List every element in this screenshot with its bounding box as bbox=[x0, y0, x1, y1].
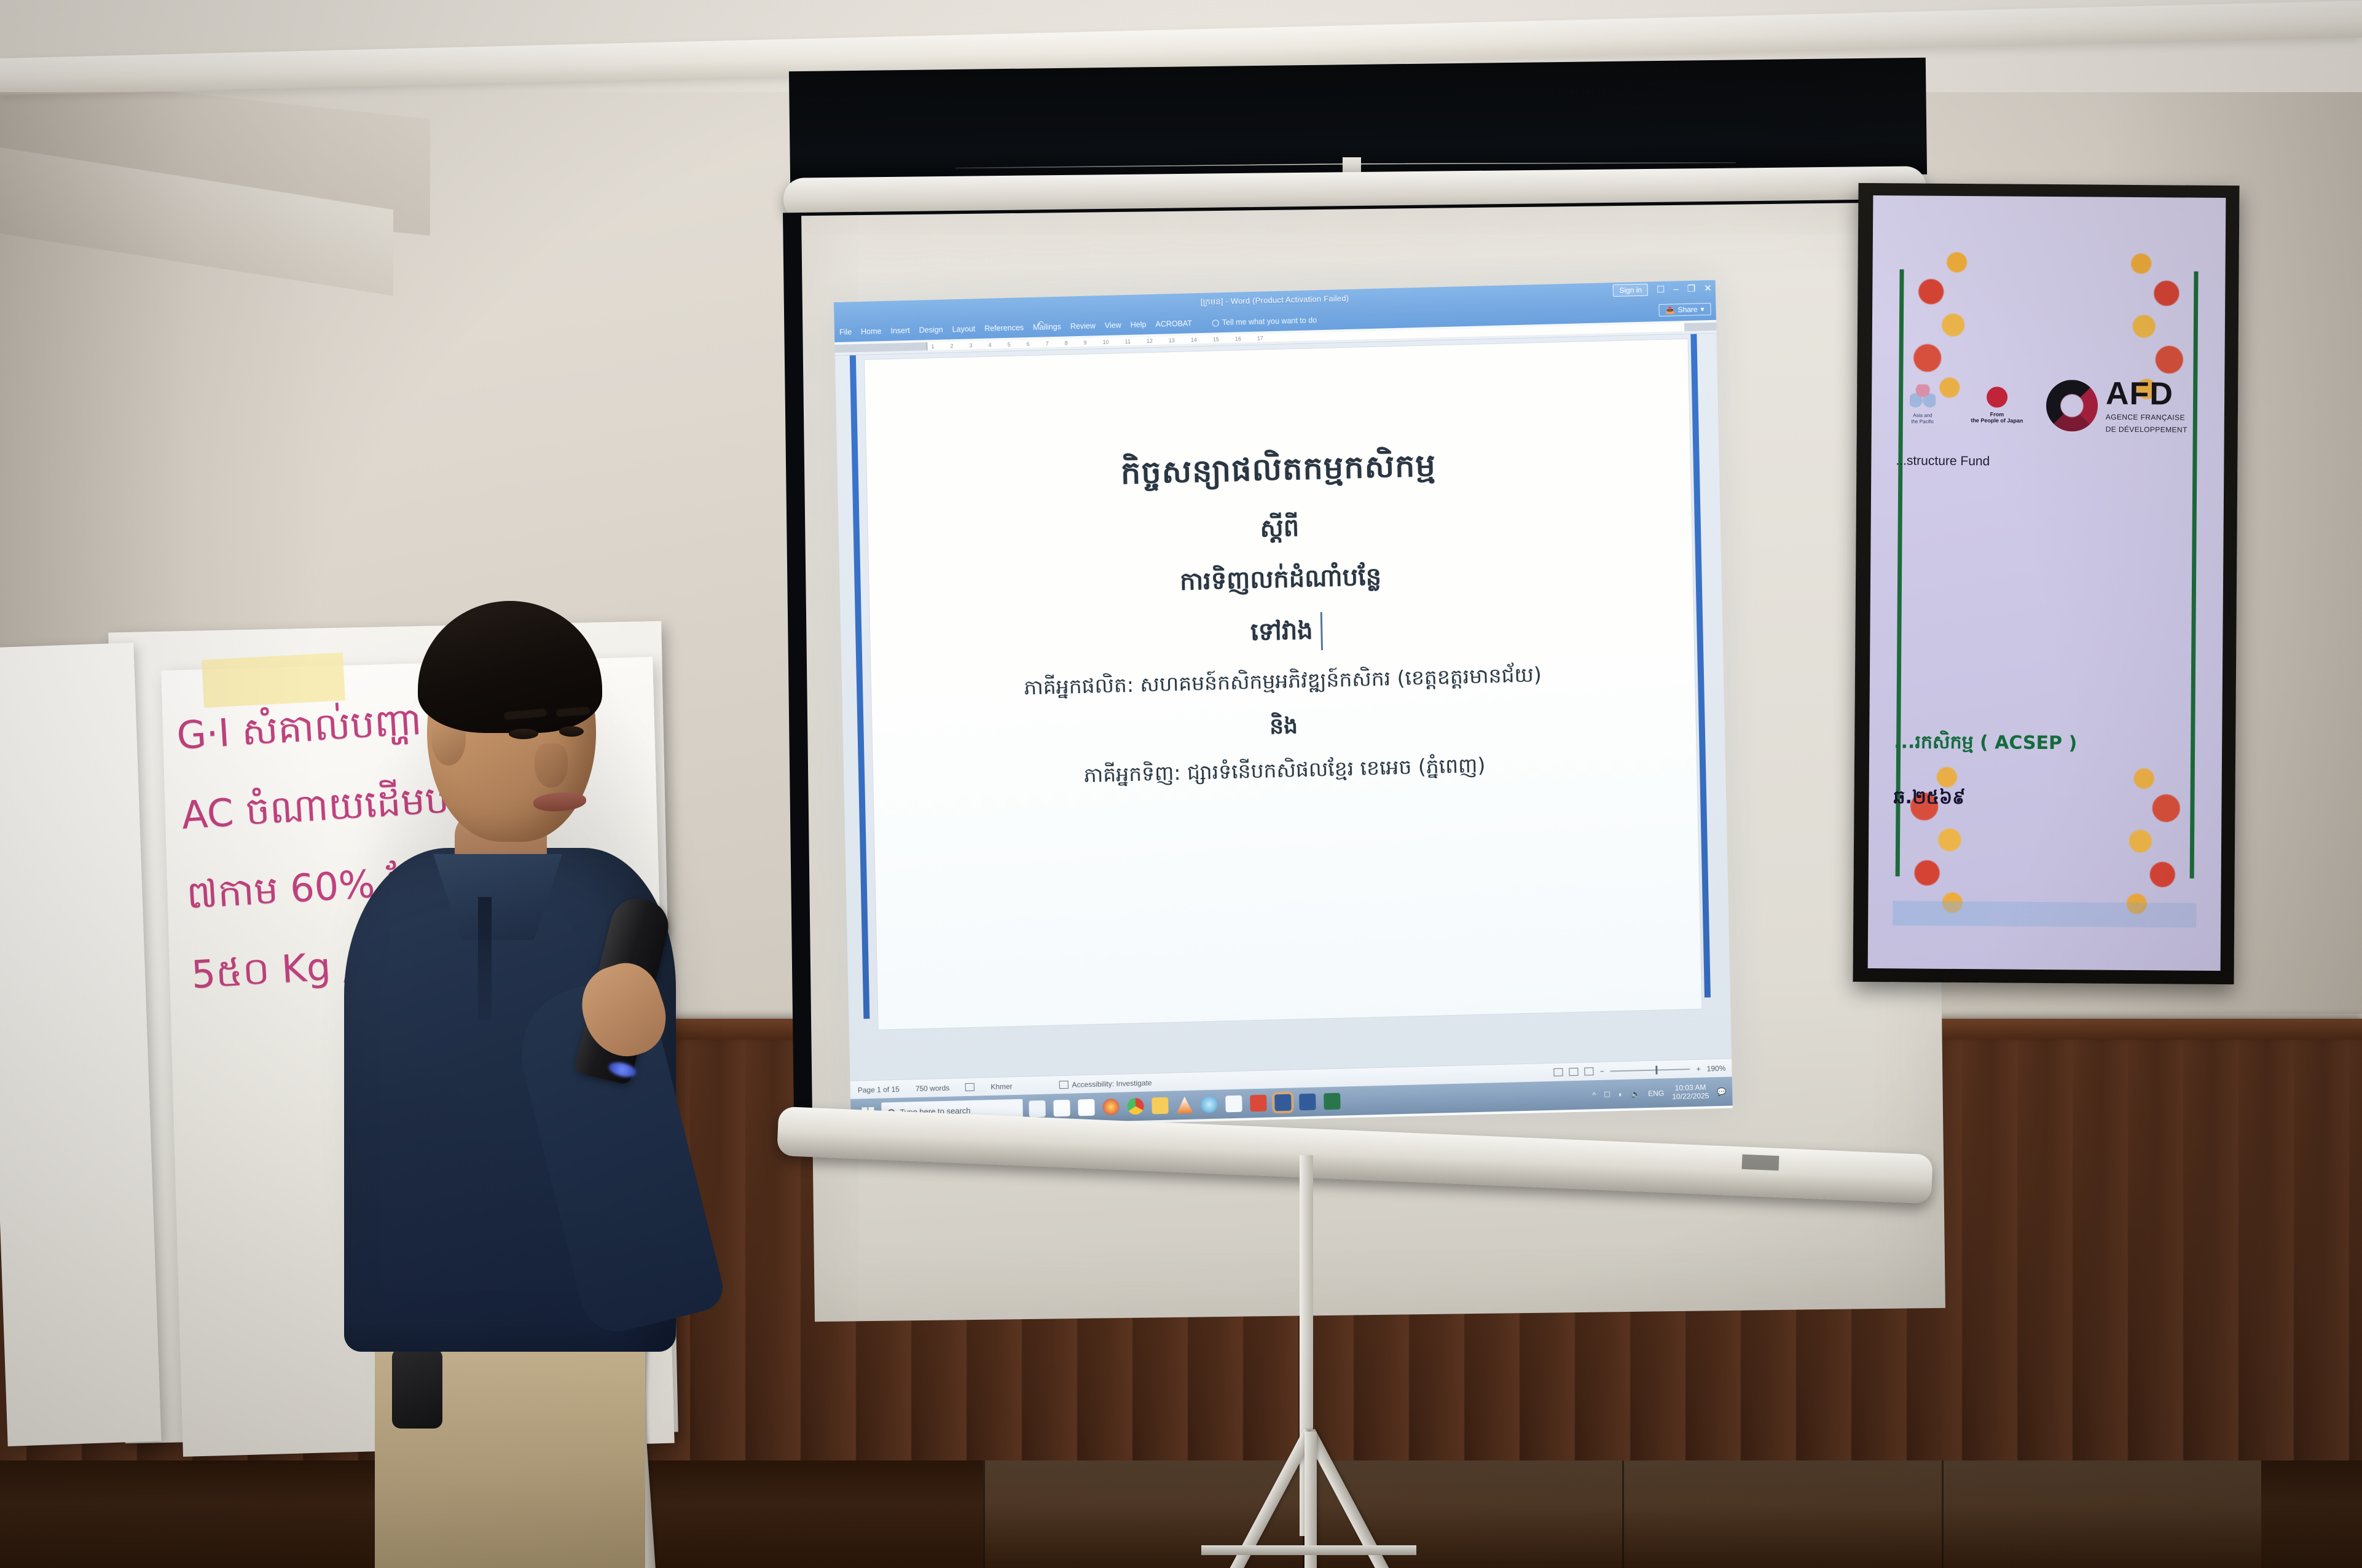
tell-me-box[interactable]: Tell me what you want to do bbox=[1212, 316, 1317, 327]
file-explorer-icon[interactable] bbox=[1152, 1097, 1169, 1115]
ruler-tick: 10 bbox=[1102, 339, 1108, 345]
calculator-icon[interactable] bbox=[1225, 1096, 1242, 1113]
japan-flag-icon bbox=[1987, 386, 2007, 407]
belt-pouch bbox=[392, 1349, 442, 1429]
doc-buyer-party: ភាគីអ្នកទិញ: ជ្សារទំនើបកសិផលខ្មែរ ខេអេច … bbox=[1083, 753, 1486, 793]
poster-khmer-title: ...រកសិកម្ម ( ACSEP ) bbox=[1894, 730, 2148, 759]
tell-me-label: Tell me what you want to do bbox=[1222, 316, 1317, 327]
zoom-controls[interactable]: − + 190% bbox=[1554, 1064, 1726, 1076]
ruler-tick: 5 bbox=[1007, 341, 1010, 347]
proofing-icon[interactable] bbox=[965, 1083, 975, 1091]
tab-help[interactable]: Help bbox=[1131, 320, 1147, 329]
notification-icon[interactable]: 💬 bbox=[1717, 1087, 1726, 1096]
restore-button[interactable]: ❐ bbox=[1687, 284, 1696, 293]
doc-crop-name-text: ទៅវាង bbox=[1250, 617, 1313, 647]
wifi-icon[interactable]: ◐ bbox=[1618, 1089, 1623, 1098]
japan-aid-logo: From the People of Japan bbox=[1960, 386, 2034, 425]
accessibility-label: Accessibility: Investigate bbox=[1072, 1078, 1152, 1089]
mail-icon[interactable] bbox=[1078, 1099, 1095, 1116]
presenter-eye bbox=[509, 729, 538, 739]
word-active-icon[interactable] bbox=[1274, 1094, 1292, 1111]
status-word-count[interactable]: 750 words bbox=[916, 1083, 950, 1092]
undo-icon[interactable]: ↶ bbox=[1037, 319, 1044, 329]
volume-icon[interactable]: 🔈 bbox=[1631, 1089, 1640, 1098]
tab-insert[interactable]: Insert bbox=[890, 326, 910, 335]
adb-flower-icon bbox=[1910, 385, 1936, 410]
clock-date: 10/22/2025 bbox=[1672, 1092, 1709, 1101]
window-controls: Sign in ☐ – ❐ ✕ bbox=[1613, 282, 1712, 297]
screen-brand-label bbox=[1742, 1154, 1779, 1170]
afd-subtitle-line1: AGENCE FRANÇAISE bbox=[2106, 413, 2187, 423]
poster-frame: Asia and the Pacific From the People of … bbox=[1853, 183, 2239, 984]
poster-board: Asia and the Pacific From the People of … bbox=[1868, 195, 2226, 971]
vlc-cone-icon[interactable] bbox=[1176, 1097, 1193, 1114]
doc-heading: កិច្ចសន្យាផលិតកម្មកសិកម្ម bbox=[1120, 445, 1436, 499]
close-button[interactable]: ✕ bbox=[1704, 283, 1712, 292]
tab-home[interactable]: Home bbox=[861, 327, 882, 336]
document-page[interactable]: កិច្ចសន្យាផលិតកម្មកសិកម្ម ស្ដីពី ការទិញល… bbox=[864, 339, 1701, 1030]
doc-subject-label: ស្ដីពី bbox=[1260, 512, 1300, 549]
tab-file[interactable]: File bbox=[839, 327, 852, 337]
doc-crop-name: ទៅវាង bbox=[1250, 615, 1314, 653]
show-hidden-icons-icon[interactable]: ^ bbox=[1592, 1091, 1596, 1099]
network-icon[interactable]: ☐ bbox=[1604, 1090, 1611, 1099]
fund-label: ...structure Fund bbox=[1896, 453, 1990, 469]
taskbar-clock[interactable]: 10:03 AM 10/22/2025 bbox=[1672, 1083, 1709, 1101]
ruler-tick: 17 bbox=[1257, 335, 1263, 341]
afd-subtitle-line2: DE DÉVELOPPEMENT bbox=[2106, 425, 2187, 435]
presenter-nose bbox=[535, 743, 568, 788]
minimize-button[interactable]: – bbox=[1673, 284, 1679, 294]
poster-khmer-year: ឆ.២៥៦៩ bbox=[1893, 785, 1965, 813]
presenter bbox=[301, 590, 756, 1568]
sign-in-button[interactable]: Sign in bbox=[1613, 284, 1648, 297]
floor-tile bbox=[1942, 1460, 2261, 1568]
microsoft-store-icon[interactable] bbox=[1053, 1100, 1070, 1117]
zoom-level[interactable]: 190% bbox=[1707, 1064, 1726, 1073]
doc-conjunction: និង bbox=[1269, 711, 1298, 745]
ruler-tick: 12 bbox=[1147, 337, 1153, 343]
ruler-tick: 6 bbox=[1026, 341, 1029, 347]
japan-caption-line2: the People of Japan bbox=[1960, 417, 2034, 424]
lightbulb-icon bbox=[1212, 319, 1219, 326]
shirt-placket bbox=[478, 897, 492, 1020]
doc-producer-party: ភាគីអ្នកផលិត: សហគមន៍កសិកម្មអភិវឌ្ឍន៍កសិក… bbox=[1024, 662, 1542, 705]
adb-caption-line2: the Pacific bbox=[1896, 418, 1949, 425]
excel-icon[interactable] bbox=[1324, 1093, 1341, 1110]
ruler-tick: 14 bbox=[1191, 337, 1197, 343]
tab-review[interactable]: Review bbox=[1070, 321, 1096, 331]
text-cursor bbox=[1320, 612, 1323, 650]
ruler-tick: 11 bbox=[1124, 338, 1131, 344]
word-document-canvas[interactable]: កិច្ចសន្យាផលិតកម្មកសិកម្ម ស្ដីពី ការទិញល… bbox=[835, 334, 1732, 1081]
zoom-slider-handle[interactable] bbox=[1656, 1065, 1658, 1074]
ruler-tick: 9 bbox=[1083, 339, 1086, 345]
task-view-icon[interactable] bbox=[1029, 1100, 1046, 1118]
ruler-tick: 15 bbox=[1213, 336, 1219, 342]
tab-layout[interactable]: Layout bbox=[952, 324, 975, 334]
ruler-tick: 4 bbox=[988, 342, 991, 348]
afd-ring-icon bbox=[2046, 380, 2098, 432]
poster-logo-row: Asia and the Pacific From the People of … bbox=[1896, 349, 2187, 461]
presenter-eye bbox=[559, 726, 584, 737]
zoom-in-button[interactable]: + bbox=[1697, 1064, 1701, 1073]
word-icon[interactable] bbox=[1299, 1094, 1316, 1111]
accessibility-icon bbox=[1059, 1081, 1068, 1089]
web-layout-view-icon[interactable] bbox=[1569, 1068, 1579, 1076]
share-icon: 📤 bbox=[1665, 305, 1674, 314]
adb-logo: Asia and the Pacific bbox=[1896, 385, 1949, 425]
ruler-tick: 2 bbox=[950, 343, 953, 349]
status-language[interactable]: Khmer bbox=[991, 1082, 1013, 1091]
ruler-tick: 3 bbox=[969, 342, 972, 348]
zoom-slider[interactable] bbox=[1611, 1068, 1690, 1072]
poster-footer-strip bbox=[1893, 901, 2196, 927]
accessibility-status[interactable]: Accessibility: Investigate bbox=[1059, 1078, 1152, 1089]
print-layout-view-icon[interactable] bbox=[1554, 1068, 1563, 1076]
ruler-tick: 16 bbox=[1235, 335, 1241, 342]
projected-desktop: [ក្រមន] - Word (Product Activation Faile… bbox=[834, 280, 1733, 1131]
tab-view[interactable]: View bbox=[1105, 321, 1121, 330]
firefox-icon[interactable] bbox=[1102, 1099, 1120, 1116]
chevron-down-icon: ▾ bbox=[1700, 305, 1704, 313]
ruler-right-margin bbox=[1684, 323, 1716, 331]
chrome-icon[interactable] bbox=[1127, 1098, 1144, 1115]
ruler-left-margin bbox=[834, 342, 927, 353]
share-label: Share bbox=[1677, 305, 1697, 315]
flipchart-sheet-side bbox=[0, 643, 162, 1446]
acsep-poster: Asia and the Pacific From the People of … bbox=[1856, 184, 2237, 983]
pdf-reader-icon[interactable] bbox=[1250, 1095, 1267, 1112]
adb-caption-line1: Asia and bbox=[1896, 413, 1949, 419]
tab-design[interactable]: Design bbox=[919, 326, 943, 335]
internet-explorer-icon[interactable] bbox=[1201, 1096, 1218, 1113]
status-page-number[interactable]: Page 1 of 15 bbox=[858, 1084, 900, 1094]
afd-logo: AFD AGENCE FRANÇAISE DE DÉVELOPPEMENT bbox=[2046, 377, 2188, 435]
ruler-tick: 13 bbox=[1169, 337, 1175, 343]
zoom-out-button[interactable]: − bbox=[1600, 1067, 1604, 1075]
system-tray: ^ ☐ ◐ 🔈 ENG 10:03 AM 10/22/2025 💬 bbox=[1592, 1083, 1732, 1103]
language-indicator[interactable]: ENG bbox=[1648, 1089, 1664, 1098]
afd-wordmark: AFD AGENCE FRANÇAISE DE DÉVELOPPEMENT bbox=[2106, 378, 2188, 435]
doc-subject: ការទិញលក់ដំណាំបន្លែ bbox=[1180, 561, 1382, 602]
read-mode-view-icon[interactable] bbox=[1585, 1067, 1594, 1075]
tripod-crossbar bbox=[1201, 1545, 1416, 1555]
share-button[interactable]: 📤 Share ▾ bbox=[1658, 303, 1711, 316]
taskbar-pinned-icons bbox=[1029, 1093, 1340, 1118]
ruler-tick: 7 bbox=[1045, 340, 1048, 347]
ruler-tick: 8 bbox=[1064, 340, 1067, 346]
word-title: [ក្រមន] - Word (Product Activation Faile… bbox=[1201, 294, 1349, 309]
tab-acrobat[interactable]: ACROBAT bbox=[1155, 319, 1192, 329]
ribbon-display-options-icon[interactable]: ☐ bbox=[1657, 284, 1665, 294]
afd-name: AFD bbox=[2106, 378, 2187, 410]
ruler-tick: 1 bbox=[931, 343, 934, 349]
projection-screen-unit: [ក្រមន] - Word (Product Activation Faile… bbox=[771, 172, 1957, 1568]
tab-references[interactable]: References bbox=[984, 323, 1024, 333]
